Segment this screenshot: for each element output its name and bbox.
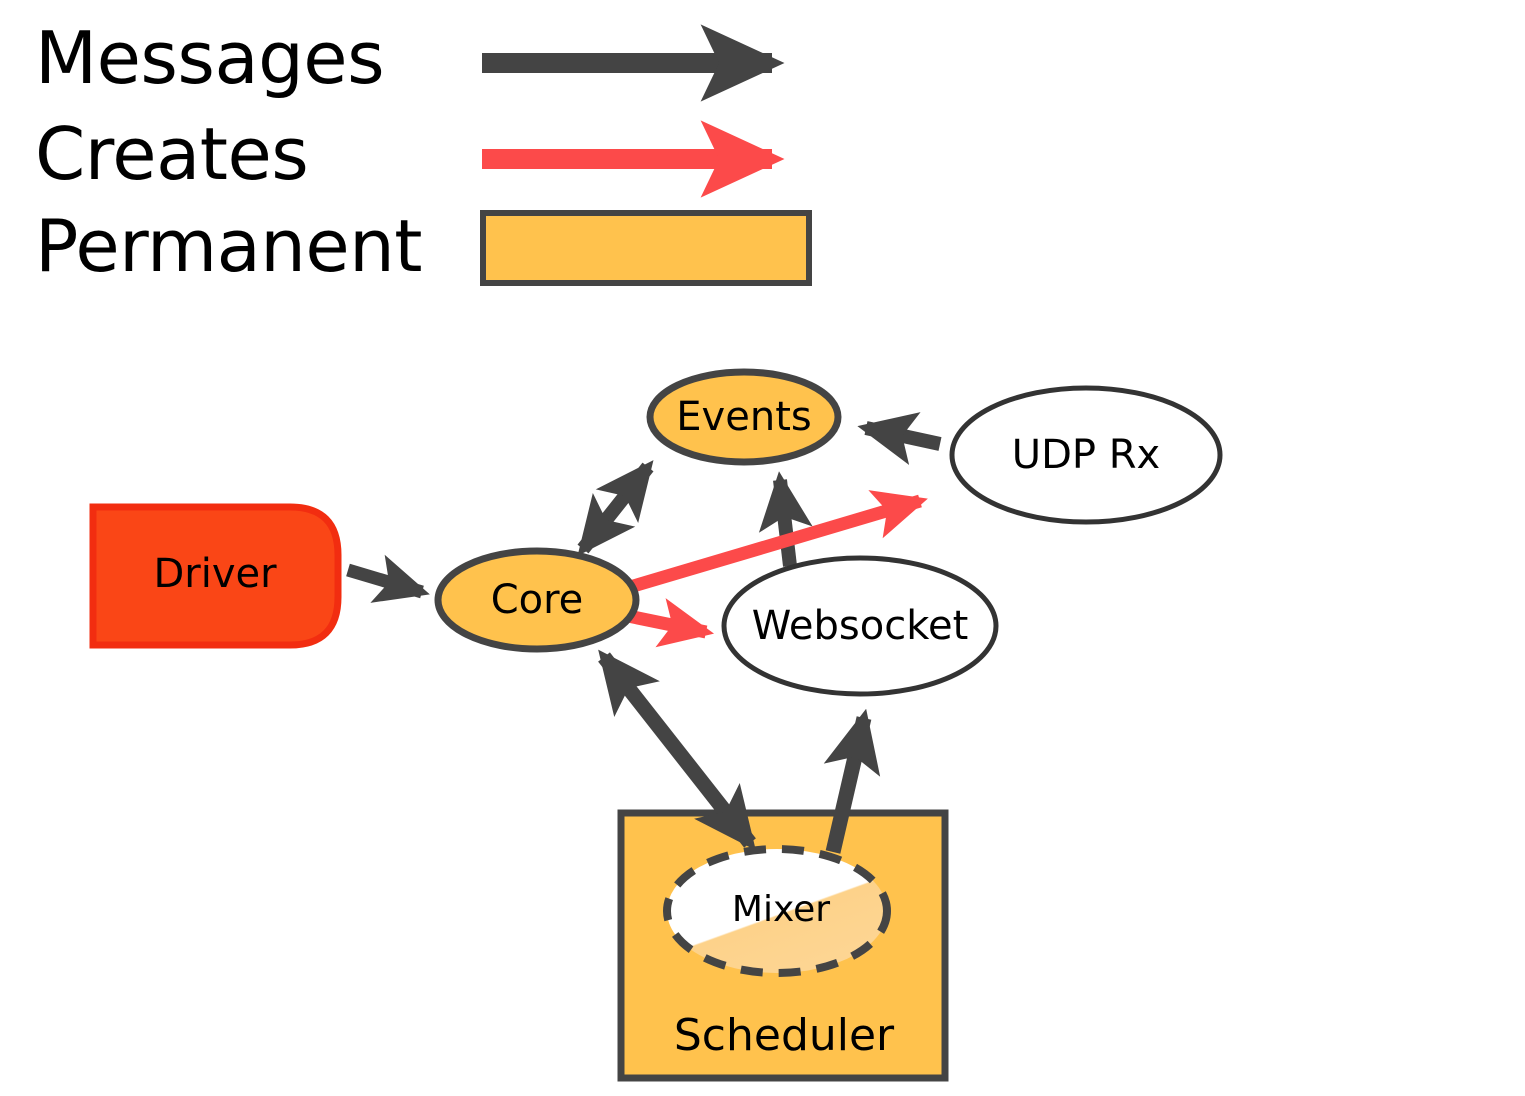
edge-core-events <box>583 467 648 549</box>
node-driver[interactable]: Driver <box>93 507 338 645</box>
node-mixer-label: Mixer <box>732 889 830 930</box>
node-core-label: Core <box>491 577 584 623</box>
node-scheduler-label: Scheduler <box>674 1010 895 1061</box>
diagram-canvas: Messages Creates Permanent <box>0 0 1525 1096</box>
legend-swatch-permanent-rect <box>483 213 809 283</box>
edge-core-to-websocket <box>628 616 706 632</box>
edge-driver-to-core <box>348 570 422 592</box>
node-driver-label: Driver <box>153 551 277 597</box>
node-events-label: Events <box>676 394 811 440</box>
edge-websocket-to-events <box>780 480 790 566</box>
node-websocket-label: Websocket <box>752 603 969 649</box>
node-mixer[interactable]: Mixer <box>667 849 887 973</box>
diagram-graphics: Driver Events UDP Rx Core Websocket Mixe… <box>0 0 1525 1096</box>
edge-udprx-to-events <box>866 428 940 444</box>
node-websocket[interactable]: Websocket <box>724 558 996 694</box>
node-udprx[interactable]: UDP Rx <box>952 388 1220 522</box>
node-events[interactable]: Events <box>650 372 838 462</box>
node-core[interactable]: Core <box>438 551 636 649</box>
node-udprx-label: UDP Rx <box>1012 432 1160 478</box>
